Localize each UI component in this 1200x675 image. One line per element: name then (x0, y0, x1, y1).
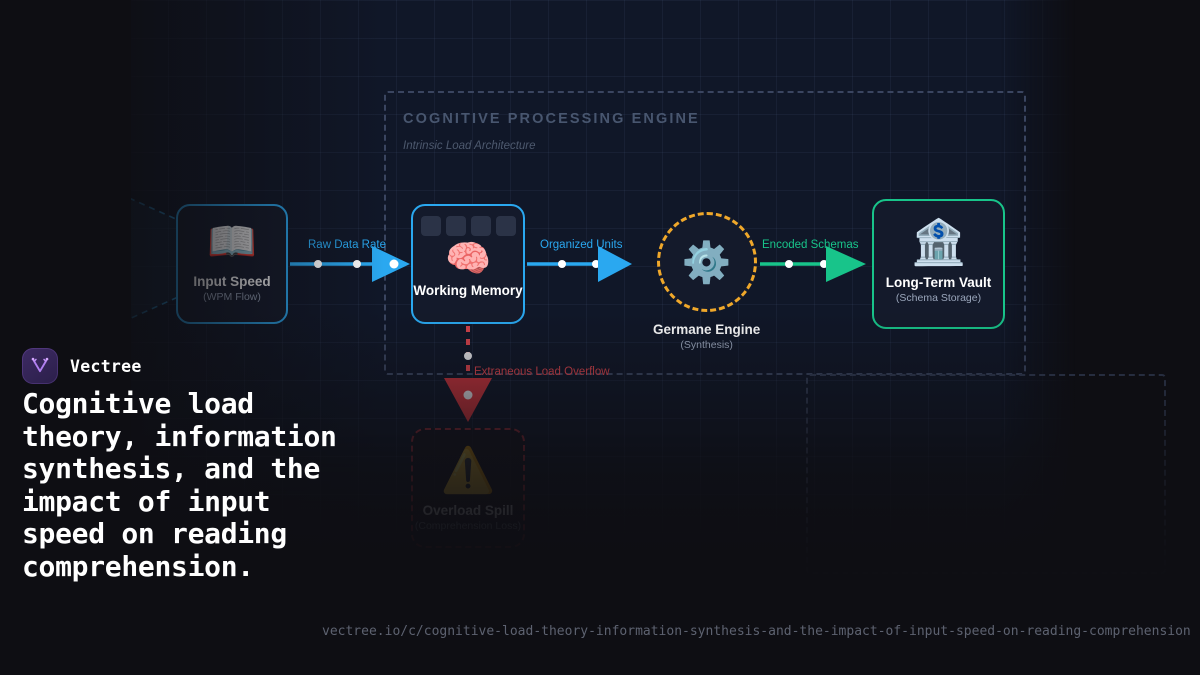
node-working-memory-box[interactable]: 🧠 Working Memory (411, 204, 525, 324)
edge-label-organized-units: Organized Units (540, 239, 622, 251)
node-germane-engine-circle[interactable]: ⚙️ (657, 212, 757, 312)
node-germane-engine-label: Germane Engine (653, 322, 760, 337)
edge-organized-units[interactable] (527, 246, 632, 282)
node-working-memory-label: Working Memory (413, 283, 522, 298)
node-input-speed[interactable]: 📖 Input Speed (WPM Flow) (176, 204, 288, 324)
node-working-memory[interactable]: 🧠 Working Memory (411, 204, 525, 324)
edge-label-encoded-schemas: Encoded Schemas (762, 239, 859, 251)
node-input-speed-sublabel: (WPM Flow) (203, 291, 261, 303)
capacity-slot (446, 216, 466, 236)
node-long-term-vault[interactable]: 🏦 Long-Term Vault (Schema Storage) (872, 199, 1005, 329)
node-overload-spill-box[interactable]: ⚠️ Overload Spill (Comprehension Loss) (411, 428, 525, 548)
node-germane-engine-sublabel: (Synthesis) (680, 339, 733, 351)
node-overload-spill-sublabel: (Comprehension Loss) (415, 520, 521, 532)
screenshot-stage: COGNITIVE PROCESSING ENGINE Intrinsic Lo… (0, 0, 1200, 675)
working-memory-capacity-slots (421, 216, 516, 236)
gear-icon: ⚙️ (682, 239, 732, 286)
page-headline: Cognitive load theory, information synth… (22, 388, 352, 583)
edge-label-raw-data-rate: Raw Data Rate (308, 239, 386, 251)
edge-label-extraneous-load-overflow: Extraneous Load Overflow (474, 366, 610, 378)
capacity-slot (496, 216, 516, 236)
page-url: vectree.io/c/cognitive-load-theory-infor… (322, 624, 1200, 639)
brand: Vectree (22, 348, 142, 384)
brain-icon: 🧠 (445, 240, 491, 277)
node-overload-spill-label: Overload Spill (423, 503, 514, 518)
node-input-speed-label: Input Speed (193, 274, 270, 289)
vectree-tree-logo-icon (29, 355, 51, 377)
open-book-icon: 📖 (207, 222, 257, 262)
capacity-slot (471, 216, 491, 236)
edge-raw-data-rate[interactable] (290, 246, 410, 282)
vectree-logo (22, 348, 58, 384)
node-long-term-vault-sublabel: (Schema Storage) (896, 292, 981, 304)
node-input-speed-box[interactable]: 📖 Input Speed (WPM Flow) (176, 204, 288, 324)
node-long-term-vault-box[interactable]: 🏦 Long-Term Vault (Schema Storage) (872, 199, 1005, 329)
node-germane-engine[interactable]: ⚙️ Germane Engine (Synthesis) (653, 212, 760, 351)
warning-icon: ⚠️ (441, 449, 496, 493)
capacity-slot (421, 216, 441, 236)
brand-name: Vectree (70, 357, 142, 376)
node-long-term-vault-label: Long-Term Vault (886, 275, 992, 290)
bank-icon: 🏦 (911, 221, 966, 265)
edge-encoded-schemas[interactable] (760, 246, 866, 282)
node-overload-spill[interactable]: ⚠️ Overload Spill (Comprehension Loss) (411, 428, 525, 548)
